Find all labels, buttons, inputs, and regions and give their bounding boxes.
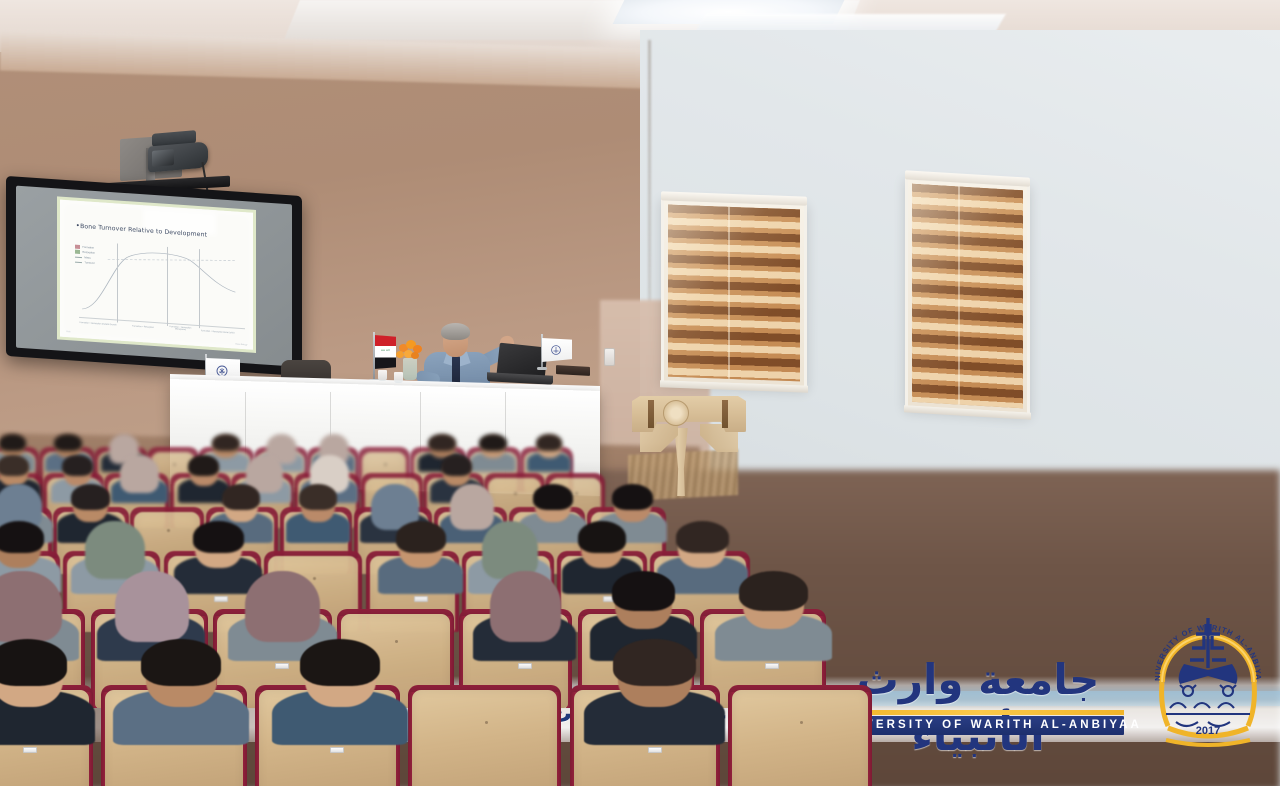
seat-number-tag bbox=[765, 663, 779, 669]
flower-petal bbox=[411, 352, 419, 359]
projector-lens bbox=[152, 149, 174, 167]
wall-socket[interactable] bbox=[604, 348, 615, 366]
window-left bbox=[661, 197, 807, 388]
lecture-hall-photo: •Bone Turnover Relative to Development F… bbox=[0, 0, 1280, 786]
audience-headscarf bbox=[0, 571, 62, 642]
display-panel: •Bone Turnover Relative to Development F… bbox=[16, 186, 292, 367]
university-crest: UNIVERSITY OF WARITH AL-ANBIYAA 2017 bbox=[1146, 604, 1270, 754]
seat-backrest bbox=[732, 690, 868, 786]
crest-arabic-ornaments bbox=[1166, 685, 1250, 726]
audience-headscarf bbox=[482, 521, 538, 578]
slide-canvas: •Bone Turnover Relative to Development F… bbox=[60, 200, 253, 350]
seat-fixing-dot bbox=[800, 721, 803, 724]
audience-hair bbox=[676, 521, 730, 553]
audience-hair bbox=[222, 484, 260, 510]
seat-number-tag bbox=[275, 663, 289, 669]
iraq-flag-script bbox=[380, 347, 391, 353]
audience-headscarf bbox=[115, 571, 189, 642]
slide: •Bone Turnover Relative to Development F… bbox=[57, 197, 256, 353]
university-name-arabic: جامعة وارث الأنبياء bbox=[828, 652, 1128, 710]
chart-divider-2 bbox=[167, 247, 168, 326]
seat-backrest bbox=[412, 690, 558, 786]
slide-corner-note: Slide bbox=[66, 331, 70, 333]
audience-hair bbox=[299, 484, 337, 510]
audience-hair bbox=[479, 434, 506, 451]
audience-hair bbox=[0, 639, 67, 686]
seat-number-tag bbox=[648, 747, 662, 753]
flower-vase bbox=[403, 358, 417, 380]
curve-turnover bbox=[108, 251, 236, 268]
audience-headscarf bbox=[120, 455, 159, 493]
water-glass bbox=[394, 372, 403, 383]
podium-emblem bbox=[663, 400, 689, 426]
bone-turnover-chart: Formation Resorption Mass Turnover bbox=[72, 239, 245, 338]
audience-hair bbox=[212, 434, 240, 451]
presentation-display[interactable]: •Bone Turnover Relative to Development F… bbox=[6, 176, 302, 376]
audience-hair bbox=[396, 521, 446, 553]
university-flag-right-base bbox=[537, 367, 547, 370]
audience-headscarf bbox=[450, 484, 494, 531]
chart-divider-3 bbox=[199, 249, 200, 328]
audience-hair bbox=[612, 484, 653, 510]
audience-hair bbox=[533, 484, 573, 510]
audience-hair bbox=[739, 571, 808, 611]
seat-number-tag bbox=[330, 747, 344, 753]
audience-hair bbox=[428, 434, 456, 451]
audience-hair bbox=[141, 639, 221, 686]
wordmark-bar: UNIVERSITY OF WARITH AL-ANBIYAA bbox=[836, 716, 1124, 735]
audience-hair bbox=[578, 521, 625, 553]
bar-group-label-3: Formation < Resorption Menopause bbox=[164, 325, 197, 332]
seat-fixing-dot bbox=[575, 492, 578, 495]
podium-trim-right bbox=[722, 400, 728, 428]
book-on-table bbox=[556, 365, 590, 376]
audience-hair bbox=[0, 434, 26, 451]
chart-overlay-curves bbox=[79, 243, 239, 322]
audience-headscarf bbox=[245, 571, 319, 642]
audience-headscarf bbox=[85, 521, 145, 578]
water-glass bbox=[378, 370, 387, 381]
curve-mass bbox=[82, 248, 235, 319]
audience-hair bbox=[613, 639, 696, 686]
audience-hair bbox=[0, 455, 29, 476]
audience-hair bbox=[612, 571, 675, 611]
bar-group-label-4: Formation < Resorption Bone Deficit bbox=[199, 330, 237, 335]
audience-hair bbox=[71, 484, 110, 510]
auditorium-seat[interactable] bbox=[732, 690, 868, 786]
window-right bbox=[905, 176, 1030, 415]
flower-petal bbox=[396, 351, 404, 358]
audience-hair bbox=[300, 639, 380, 686]
bar-group-label-2: Formation = Resorption bbox=[124, 325, 162, 330]
audience-hair bbox=[62, 455, 93, 476]
audience-hair bbox=[536, 434, 562, 451]
window-left-blind-seam bbox=[728, 207, 730, 379]
audience-hair bbox=[441, 455, 472, 476]
seat-number-tag bbox=[23, 747, 37, 753]
bar-group-label-1: Formation > Resorption Skeletal Growth bbox=[79, 322, 117, 327]
audience-hair bbox=[193, 521, 245, 553]
seat-fixing-dot bbox=[485, 721, 488, 724]
window-right-blind[interactable] bbox=[912, 184, 1023, 409]
university-name-english: UNIVERSITY OF WARITH AL-ANBIYAA bbox=[836, 716, 1124, 735]
audience-hair bbox=[188, 455, 219, 476]
wordmark-gold-rule bbox=[836, 710, 1124, 715]
podium-trim-left bbox=[648, 400, 654, 428]
university-wordmark: جامعة وارث الأنبياء UNIVERSITY OF WARITH… bbox=[828, 652, 1128, 744]
slide-footer: Bone Biology bbox=[236, 343, 248, 346]
audience-hair bbox=[54, 434, 82, 451]
crest-year: 2017 bbox=[1196, 725, 1220, 737]
audience-hair bbox=[0, 521, 44, 553]
window-left-blind[interactable] bbox=[668, 205, 800, 382]
seat-number-tag bbox=[414, 596, 428, 602]
chart-divider-1 bbox=[117, 244, 118, 323]
presenter-hair bbox=[441, 323, 470, 340]
seat-number-tag bbox=[214, 596, 228, 602]
university-flag-right-emblem bbox=[549, 344, 563, 356]
seat-number-tag bbox=[518, 663, 532, 669]
auditorium-seat[interactable] bbox=[412, 690, 558, 786]
window-right-blind-seam bbox=[958, 186, 960, 404]
audience-headscarf bbox=[490, 571, 561, 642]
iraq-flag-pole bbox=[373, 332, 375, 380]
